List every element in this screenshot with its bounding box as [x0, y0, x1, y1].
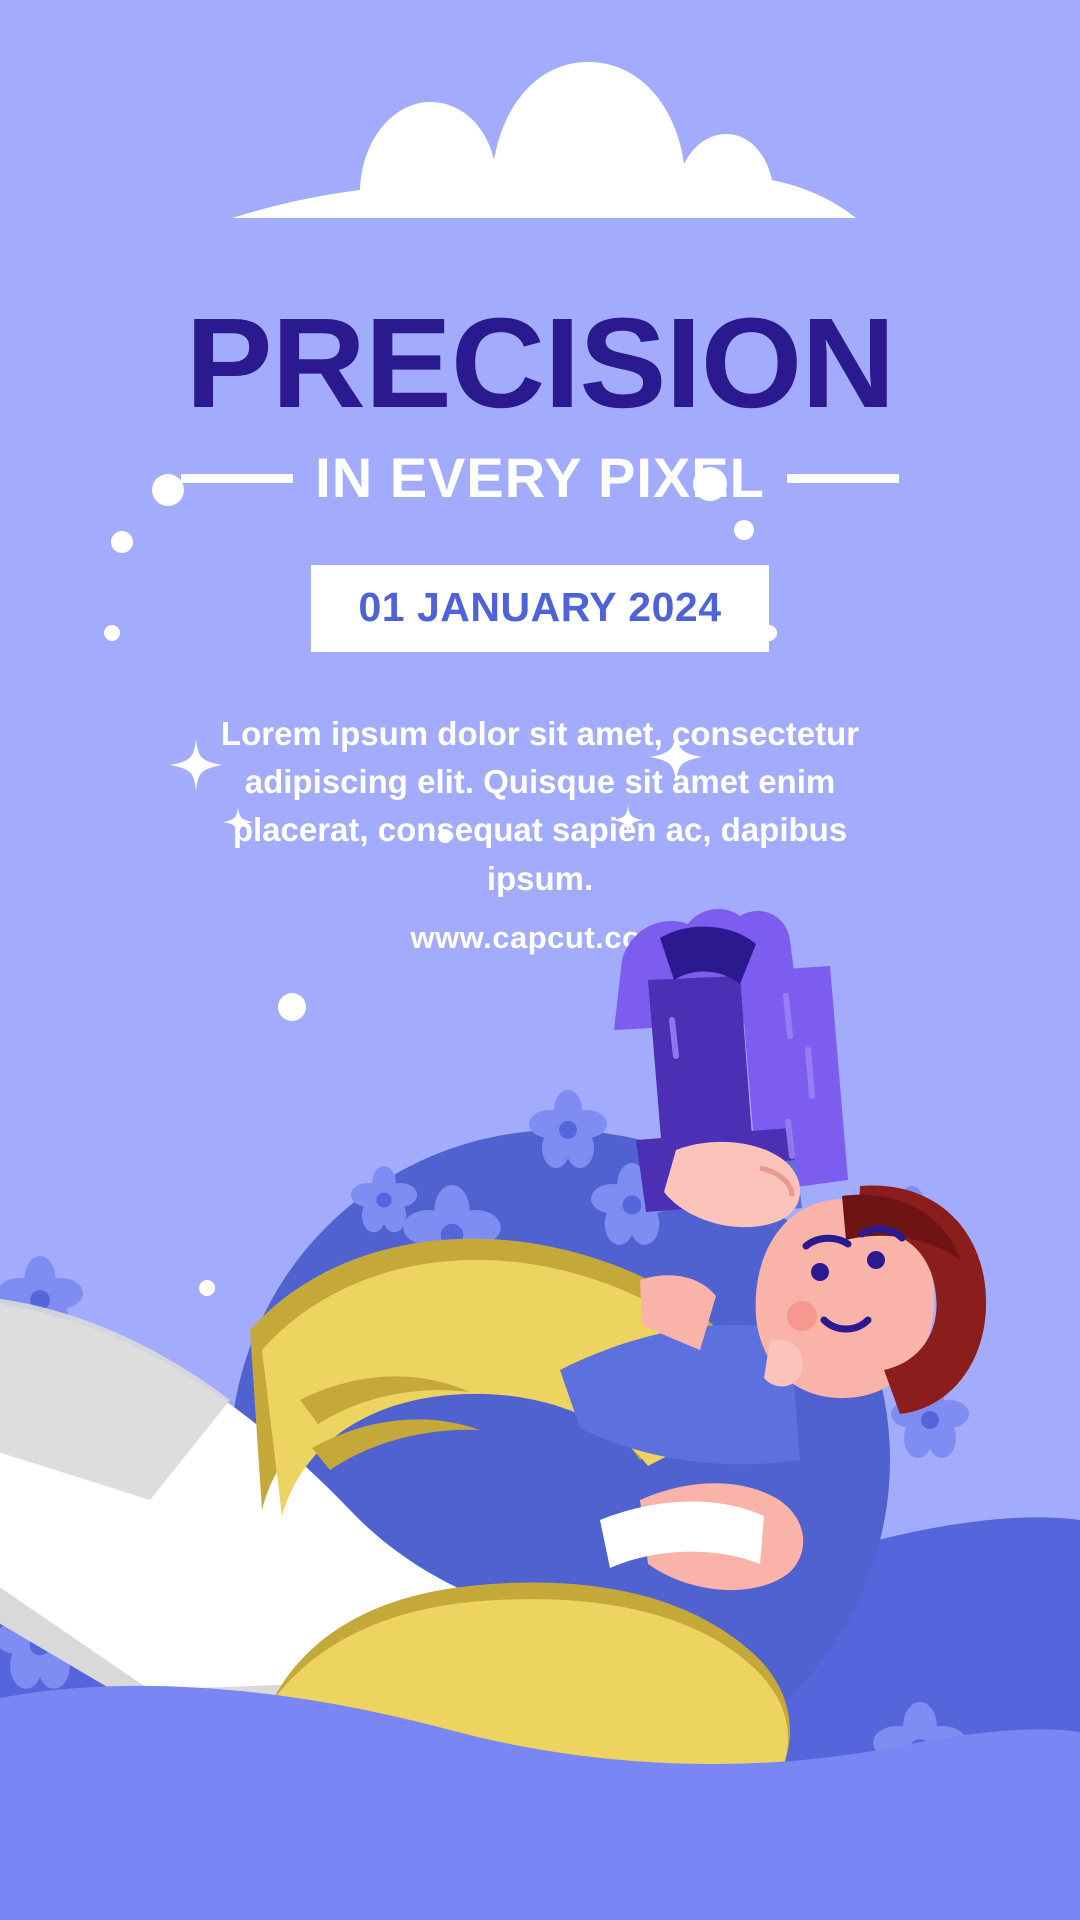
- subtitle-row: IN EVERY PIXEL: [0, 450, 1080, 506]
- cheek-blush: [787, 1301, 817, 1331]
- date-badge[interactable]: 01 JANUARY 2024: [311, 565, 769, 652]
- decor-dot: [734, 520, 754, 540]
- rule-left: [181, 474, 293, 483]
- cloud-shape: [0, 40, 1080, 220]
- eye-left: [811, 1263, 829, 1281]
- illustration-woman-reading-book: [0, 900, 1080, 1920]
- date-badge-label: 01 JANUARY 2024: [357, 587, 723, 628]
- eye-right: [867, 1251, 885, 1269]
- page-title: PRECISION: [0, 300, 1080, 428]
- head: [756, 1186, 986, 1414]
- rule-right: [787, 474, 899, 483]
- body-paragraph: Lorem ipsum dolor sit amet, consectetur …: [180, 710, 900, 903]
- subtitle: IN EVERY PIXEL: [315, 450, 765, 506]
- decor-dot: [104, 625, 120, 641]
- poster-canvas: PRECISION IN EVERY PIXEL 01 JANUARY 2024…: [0, 0, 1080, 1920]
- decor-dot: [111, 531, 133, 553]
